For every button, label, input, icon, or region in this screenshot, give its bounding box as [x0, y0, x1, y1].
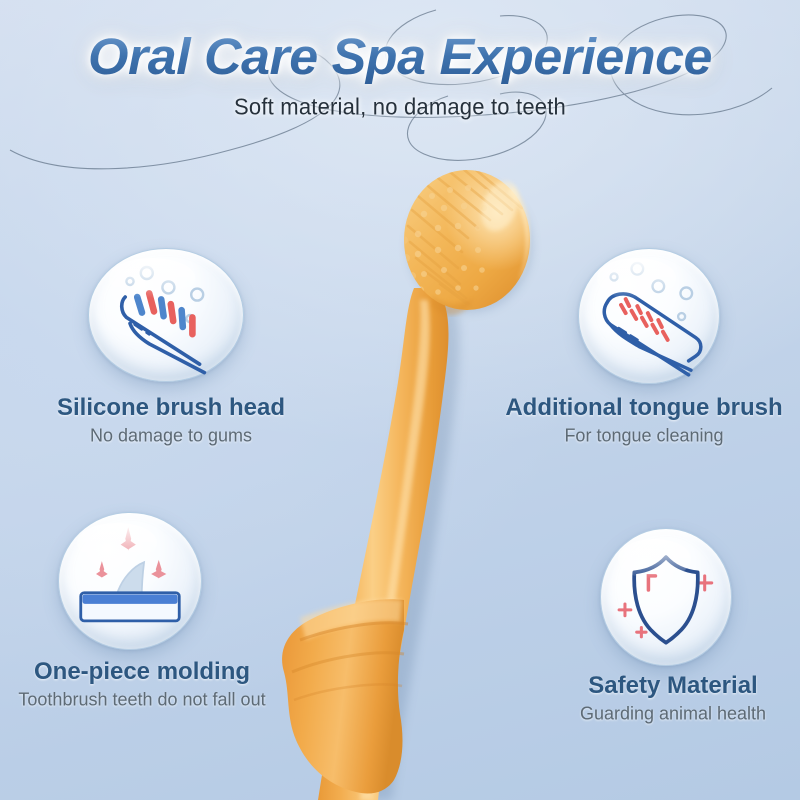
- feature-icon-bubble: [600, 528, 732, 666]
- feature-text: One-piece molding Toothbrush teeth do no…: [8, 658, 276, 710]
- page-subtitle: Soft material, no damage to teeth: [0, 93, 800, 121]
- feature-title: Silicone brush head: [36, 394, 306, 422]
- feature-subtitle: Guarding animal health: [548, 703, 798, 725]
- infographic-canvas: Oral Care Spa Experience Soft material, …: [0, 0, 800, 800]
- shield-icon: [601, 529, 731, 665]
- tongue-brush-icon: [579, 249, 719, 383]
- feature-title: One-piece molding: [8, 658, 276, 686]
- feature-title: Safety Material: [548, 672, 798, 700]
- feature-text: Additional tongue brush For tongue clean…: [488, 394, 800, 446]
- feature-silicone-brush-head[interactable]: Silicone brush head No damage to gums: [36, 248, 306, 446]
- feature-safety-material[interactable]: Safety Material Guarding animal health: [548, 528, 798, 724]
- feature-icon-bubble: [578, 248, 720, 384]
- feature-icon-bubble: [58, 512, 202, 650]
- feature-text: Safety Material Guarding animal health: [548, 672, 798, 724]
- feature-title: Additional tongue brush: [488, 394, 800, 422]
- feature-subtitle: Toothbrush teeth do not fall out: [8, 689, 276, 711]
- toothbrush-bristles-icon: [89, 249, 243, 381]
- feature-subtitle: For tongue cleaning: [488, 425, 800, 447]
- page-title: Oral Care Spa Experience: [0, 30, 800, 84]
- feature-additional-tongue-brush[interactable]: Additional tongue brush For tongue clean…: [488, 248, 800, 446]
- feature-text: Silicone brush head No damage to gums: [36, 394, 306, 446]
- feature-icon-bubble: [88, 248, 244, 382]
- feature-one-piece-molding[interactable]: One-piece molding Toothbrush teeth do no…: [8, 512, 276, 710]
- header: Oral Care Spa Experience Soft material, …: [0, 30, 800, 120]
- feature-subtitle: No damage to gums: [36, 425, 306, 447]
- molded-tooth-sparkle-icon: [59, 513, 201, 649]
